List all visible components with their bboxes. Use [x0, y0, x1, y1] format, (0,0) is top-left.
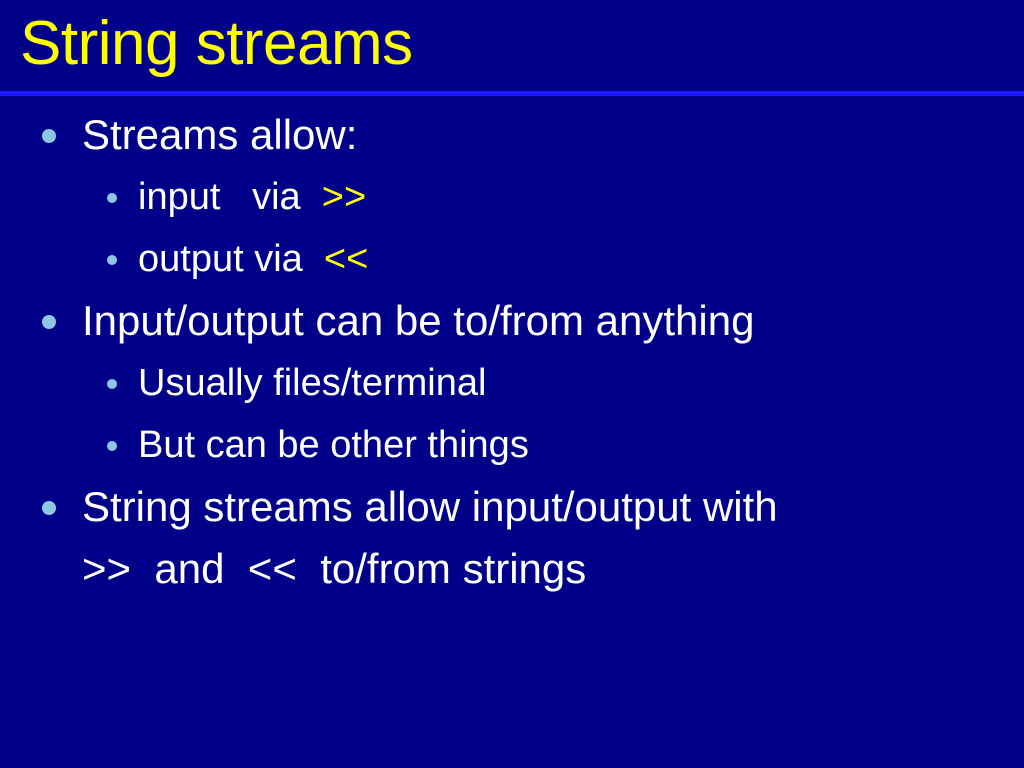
- bullet-text: Usually files/terminal: [138, 362, 486, 404]
- bullet-usually-files-terminal: Usually files/terminal: [0, 352, 1024, 414]
- slide: String streams Streams allow: input via …: [0, 0, 1024, 768]
- bullet-other-things: But can be other things: [0, 414, 1024, 476]
- bullet-text: Input/output can be to/from anything: [82, 297, 754, 344]
- slide-body: Streams allow: input via >> output via <…: [0, 104, 1024, 600]
- bullet-string-streams-allow: String streams allow input/output with >…: [0, 476, 1024, 600]
- bullet-dot-icon: [107, 379, 117, 389]
- bullet-text-line-2: >> and << to/from strings: [82, 538, 1024, 600]
- bullet-dot-icon: [42, 129, 56, 143]
- bullet-dot-icon: [42, 315, 56, 329]
- bullet-dot-icon: [107, 193, 117, 203]
- bullet-dot-icon: [42, 501, 56, 515]
- bullet-text: output via: [138, 238, 324, 280]
- bullet-streams-allow: Streams allow:: [0, 104, 1024, 166]
- slide-title: String streams: [20, 8, 1004, 88]
- bullet-dot-icon: [107, 441, 117, 451]
- title-divider: [0, 91, 1024, 96]
- operator-extraction: >>: [322, 176, 366, 218]
- bullet-text: input via: [138, 176, 322, 218]
- bullet-dot-icon: [107, 255, 117, 265]
- bullet-output-via: output via <<: [0, 228, 1024, 290]
- bullet-text-line-1: String streams allow input/output with: [82, 476, 1024, 538]
- bullet-input-output-anything: Input/output can be to/from anything: [0, 290, 1024, 352]
- bullet-text: But can be other things: [138, 424, 529, 466]
- operator-insertion: <<: [324, 238, 368, 280]
- bullet-text: Streams allow:: [82, 111, 357, 158]
- bullet-input-via: input via >>: [0, 166, 1024, 228]
